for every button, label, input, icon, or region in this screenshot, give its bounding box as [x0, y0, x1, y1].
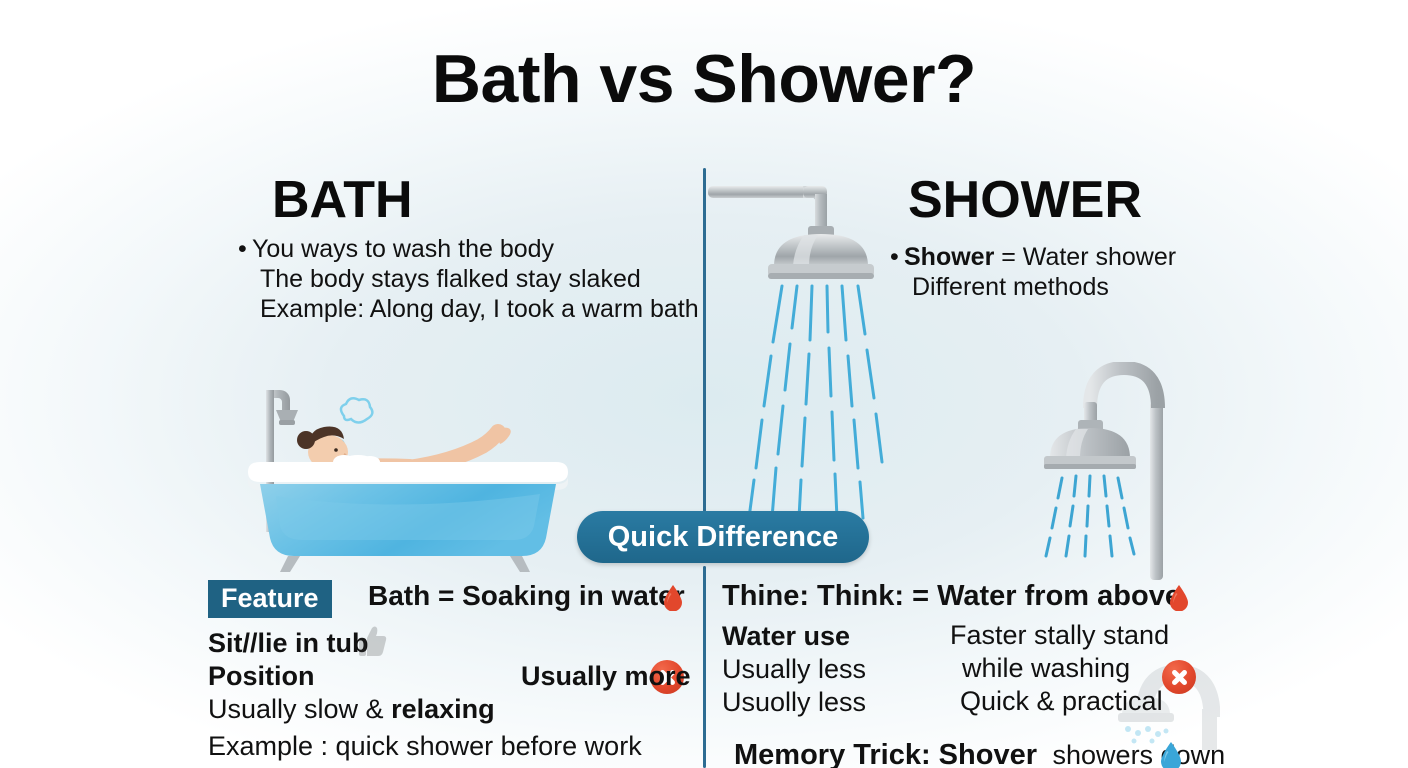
memory-trick-row: Memory Trick: Shover showers down — [722, 739, 1202, 768]
bath-intro-line-2: The body stays flalked stay slaked — [238, 264, 699, 294]
memory-trick-text: showers down — [1045, 740, 1226, 768]
bath-position-row-1: Sit//lie in tub — [208, 628, 688, 659]
shower-definition-row: Thine: Think: = Water from above — [722, 580, 1202, 613]
bath-comparison-header-row: Feature Bath = Soaking in water — [208, 580, 688, 620]
red-droplet-icon — [1169, 584, 1189, 611]
bath-intro-line-1: •You ways to wash the body — [238, 234, 699, 264]
blue-droplet-icon — [1160, 741, 1182, 768]
thumbs-up-icon — [358, 624, 388, 665]
shower-attribute-rows: Water use Usually less Usuolly less Fast… — [722, 620, 1202, 719]
shower-comparison-block: Thine: Think: = Water from above Water u… — [722, 580, 1202, 768]
shower-intro-line-1: •Shower = Water shower — [890, 242, 1176, 272]
bath-position-label: Position — [208, 661, 315, 691]
person-in-bathtub-illustration — [232, 372, 584, 577]
infographic-canvas: Bath vs Shower? BATH SHOWER •You ways to… — [0, 0, 1408, 768]
standing-shower-illustration — [1028, 362, 1218, 587]
memory-trick-label: Memory Trick: Shover — [734, 739, 1037, 768]
quick-difference-badge[interactable]: Quick Difference — [577, 511, 869, 563]
red-cross-icon — [1162, 660, 1196, 694]
wall-shower-head-illustration — [700, 168, 900, 525]
bath-comparison-block: Feature Bath = Soaking in water Sit//lie… — [208, 580, 688, 762]
shower-value-2: while washing — [962, 653, 1130, 684]
page-title: Bath vs Shower? — [0, 40, 1408, 118]
bath-intro-list: •You ways to wash the body The body stay… — [238, 234, 699, 324]
shower-intro-keyword: Shower — [904, 243, 994, 271]
red-droplet-icon — [663, 584, 683, 611]
shower-definition-text: Thine: Think: = Water from above — [722, 580, 1181, 612]
bath-position-value: Usually more — [521, 661, 691, 692]
bath-pace-row: Usually slow & relaxing — [208, 694, 688, 725]
bath-column-heading: BATH — [272, 170, 413, 230]
shower-intro-definition: = Water shower — [994, 243, 1176, 271]
shower-intro-list: •Shower = Water shower Different methods — [890, 242, 1176, 302]
bullet-icon: • — [238, 234, 252, 264]
feature-badge[interactable]: Feature — [208, 580, 332, 618]
column-divider-bottom — [703, 566, 706, 768]
bath-definition-text: Bath = Soaking in water — [368, 580, 685, 612]
bath-intro-line-3: Example: Along day, I took a warm bath — [238, 294, 699, 324]
bath-intro-text-1: You ways to wash the body — [252, 235, 554, 263]
bath-pace-keyword: relaxing — [391, 694, 495, 724]
shower-intro-line-2: Different methods — [890, 272, 1176, 302]
shower-value-1: Faster stally stand — [950, 620, 1169, 651]
shower-value-3: Quick & practical — [960, 686, 1163, 717]
bath-pace-text: Usually slow & — [208, 694, 391, 724]
bath-position-row-2: Position Usually more — [208, 661, 688, 692]
bath-example-row: Example : quick shower before work — [208, 731, 688, 762]
shower-column-heading: SHOWER — [908, 170, 1142, 230]
bath-tub-text: Sit//lie in tub — [208, 628, 369, 658]
